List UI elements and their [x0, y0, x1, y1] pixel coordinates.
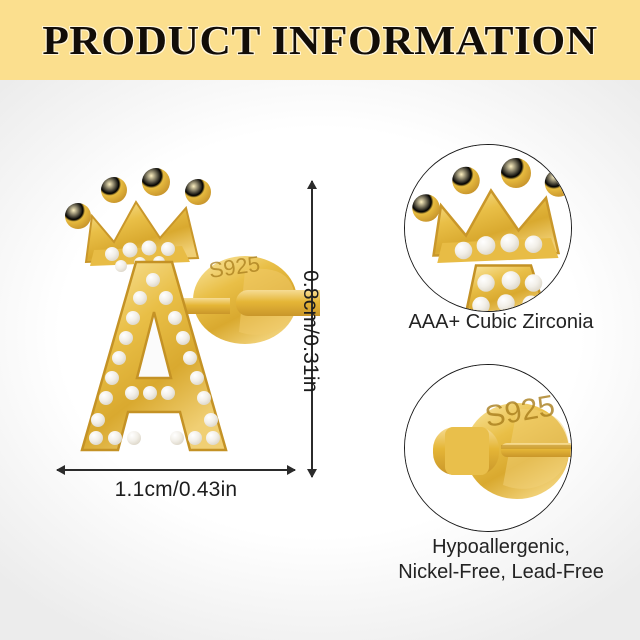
crown-ball-2: [101, 177, 127, 203]
earring-back-closeup-illustration: S925: [405, 365, 571, 531]
letter-a-crown-earring-illustration: S925: [40, 150, 320, 480]
product-information-page: PRODUCT INFORMATION: [0, 0, 640, 640]
crown-ball-3: [142, 168, 170, 196]
feature-inset-cubic-zirconia: [404, 144, 572, 312]
feature-inset-hypoallergenic: S925: [404, 364, 572, 532]
product-main-image: S925: [40, 150, 320, 480]
crown-closeup-illustration: [405, 145, 571, 311]
height-dimension-label: 0.8cm/0.31in: [298, 270, 322, 393]
crown-ball-1: [65, 203, 91, 229]
caption-hypoallergenic: Hypoallergenic, Nickel-Free, Lead-Free: [371, 535, 631, 585]
width-dimension-line: [57, 469, 295, 471]
crown-ball-4: [185, 179, 211, 205]
caption-cubic-zirconia: AAA+ Cubic Zirconia: [371, 310, 631, 335]
caption-hypoallergenic-line1: Hypoallergenic,: [371, 535, 631, 560]
caption-hypoallergenic-line2: Nickel-Free, Lead-Free: [371, 560, 631, 585]
crown-group: [65, 168, 211, 272]
page-title: PRODUCT INFORMATION: [0, 0, 640, 80]
width-dimension-label: 1.1cm/0.43in: [57, 478, 295, 502]
header-banner: PRODUCT INFORMATION: [0, 0, 640, 80]
